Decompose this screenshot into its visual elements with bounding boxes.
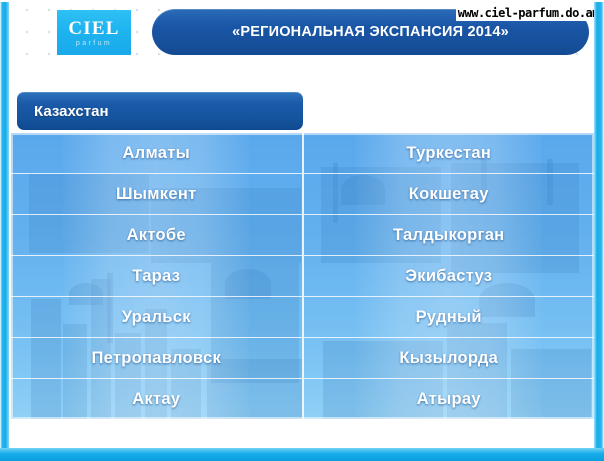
ciel-parfum-logo: CIEL parfum	[57, 10, 131, 55]
city-name: Туркестан	[406, 144, 491, 163]
city-cell[interactable]: Актау	[11, 379, 302, 419]
city-name: Актау	[132, 390, 180, 409]
city-grid: Алматы Шымкент Актобе Тараз Уральск Петр…	[11, 133, 594, 419]
city-cell[interactable]: Петропавловск	[11, 338, 302, 379]
city-cell[interactable]: Экибастуз	[304, 256, 595, 297]
country-tab-label: Казахстан	[17, 103, 109, 120]
frame-right-edge	[594, 0, 604, 461]
page-title: «РЕГИОНАЛЬНАЯ ЭКСПАНСИЯ 2014»	[232, 24, 509, 40]
city-list-panel: Алматы Шымкент Актобе Тараз Уральск Петр…	[11, 133, 594, 419]
city-cell[interactable]: Актобе	[11, 215, 302, 256]
slide-footer	[9, 419, 595, 448]
city-cell[interactable]: Шымкент	[11, 174, 302, 215]
logo-tagline: parfum	[76, 40, 112, 47]
city-name: Рудный	[416, 308, 482, 327]
city-cell[interactable]: Рудный	[304, 297, 595, 338]
city-column-right: Туркестан Кокшетау Талдыкорган Экибастуз…	[304, 133, 595, 419]
city-name: Шымкент	[116, 185, 196, 204]
logo-wordmark: CIEL	[68, 19, 119, 38]
city-name: Уральск	[122, 308, 191, 327]
frame-left-edge	[0, 0, 9, 461]
city-cell[interactable]: Талдыкорган	[304, 215, 595, 256]
city-cell[interactable]: Туркестан	[304, 133, 595, 174]
city-name: Кокшетау	[409, 185, 489, 204]
city-name: Алматы	[122, 144, 190, 163]
city-column-left: Алматы Шымкент Актобе Тараз Уральск Петр…	[11, 133, 304, 419]
country-tab-kazakhstan[interactable]: Казахстан	[17, 92, 303, 130]
frame-bottom-edge	[0, 448, 604, 461]
city-name: Экибастуз	[405, 267, 492, 286]
city-cell[interactable]: Кокшетау	[304, 174, 595, 215]
city-cell[interactable]: Алматы	[11, 133, 302, 174]
city-name: Петропавловск	[91, 349, 221, 368]
city-name: Кызылорда	[399, 349, 498, 368]
city-cell[interactable]: Тараз	[11, 256, 302, 297]
city-cell[interactable]: Уральск	[11, 297, 302, 338]
site-watermark: www.ciel-parfum.do.am	[456, 5, 601, 21]
frame-top-edge	[0, 0, 604, 2]
presentation-slide: CIEL parfum «РЕГИОНАЛЬНАЯ ЭКСПАНСИЯ 2014…	[0, 0, 604, 461]
city-name: Атырау	[417, 390, 481, 409]
city-cell[interactable]: Кызылорда	[304, 338, 595, 379]
city-name: Талдыкорган	[393, 226, 504, 245]
city-name: Тараз	[132, 267, 180, 286]
city-cell[interactable]: Атырау	[304, 379, 595, 419]
city-name: Актобе	[127, 226, 186, 245]
